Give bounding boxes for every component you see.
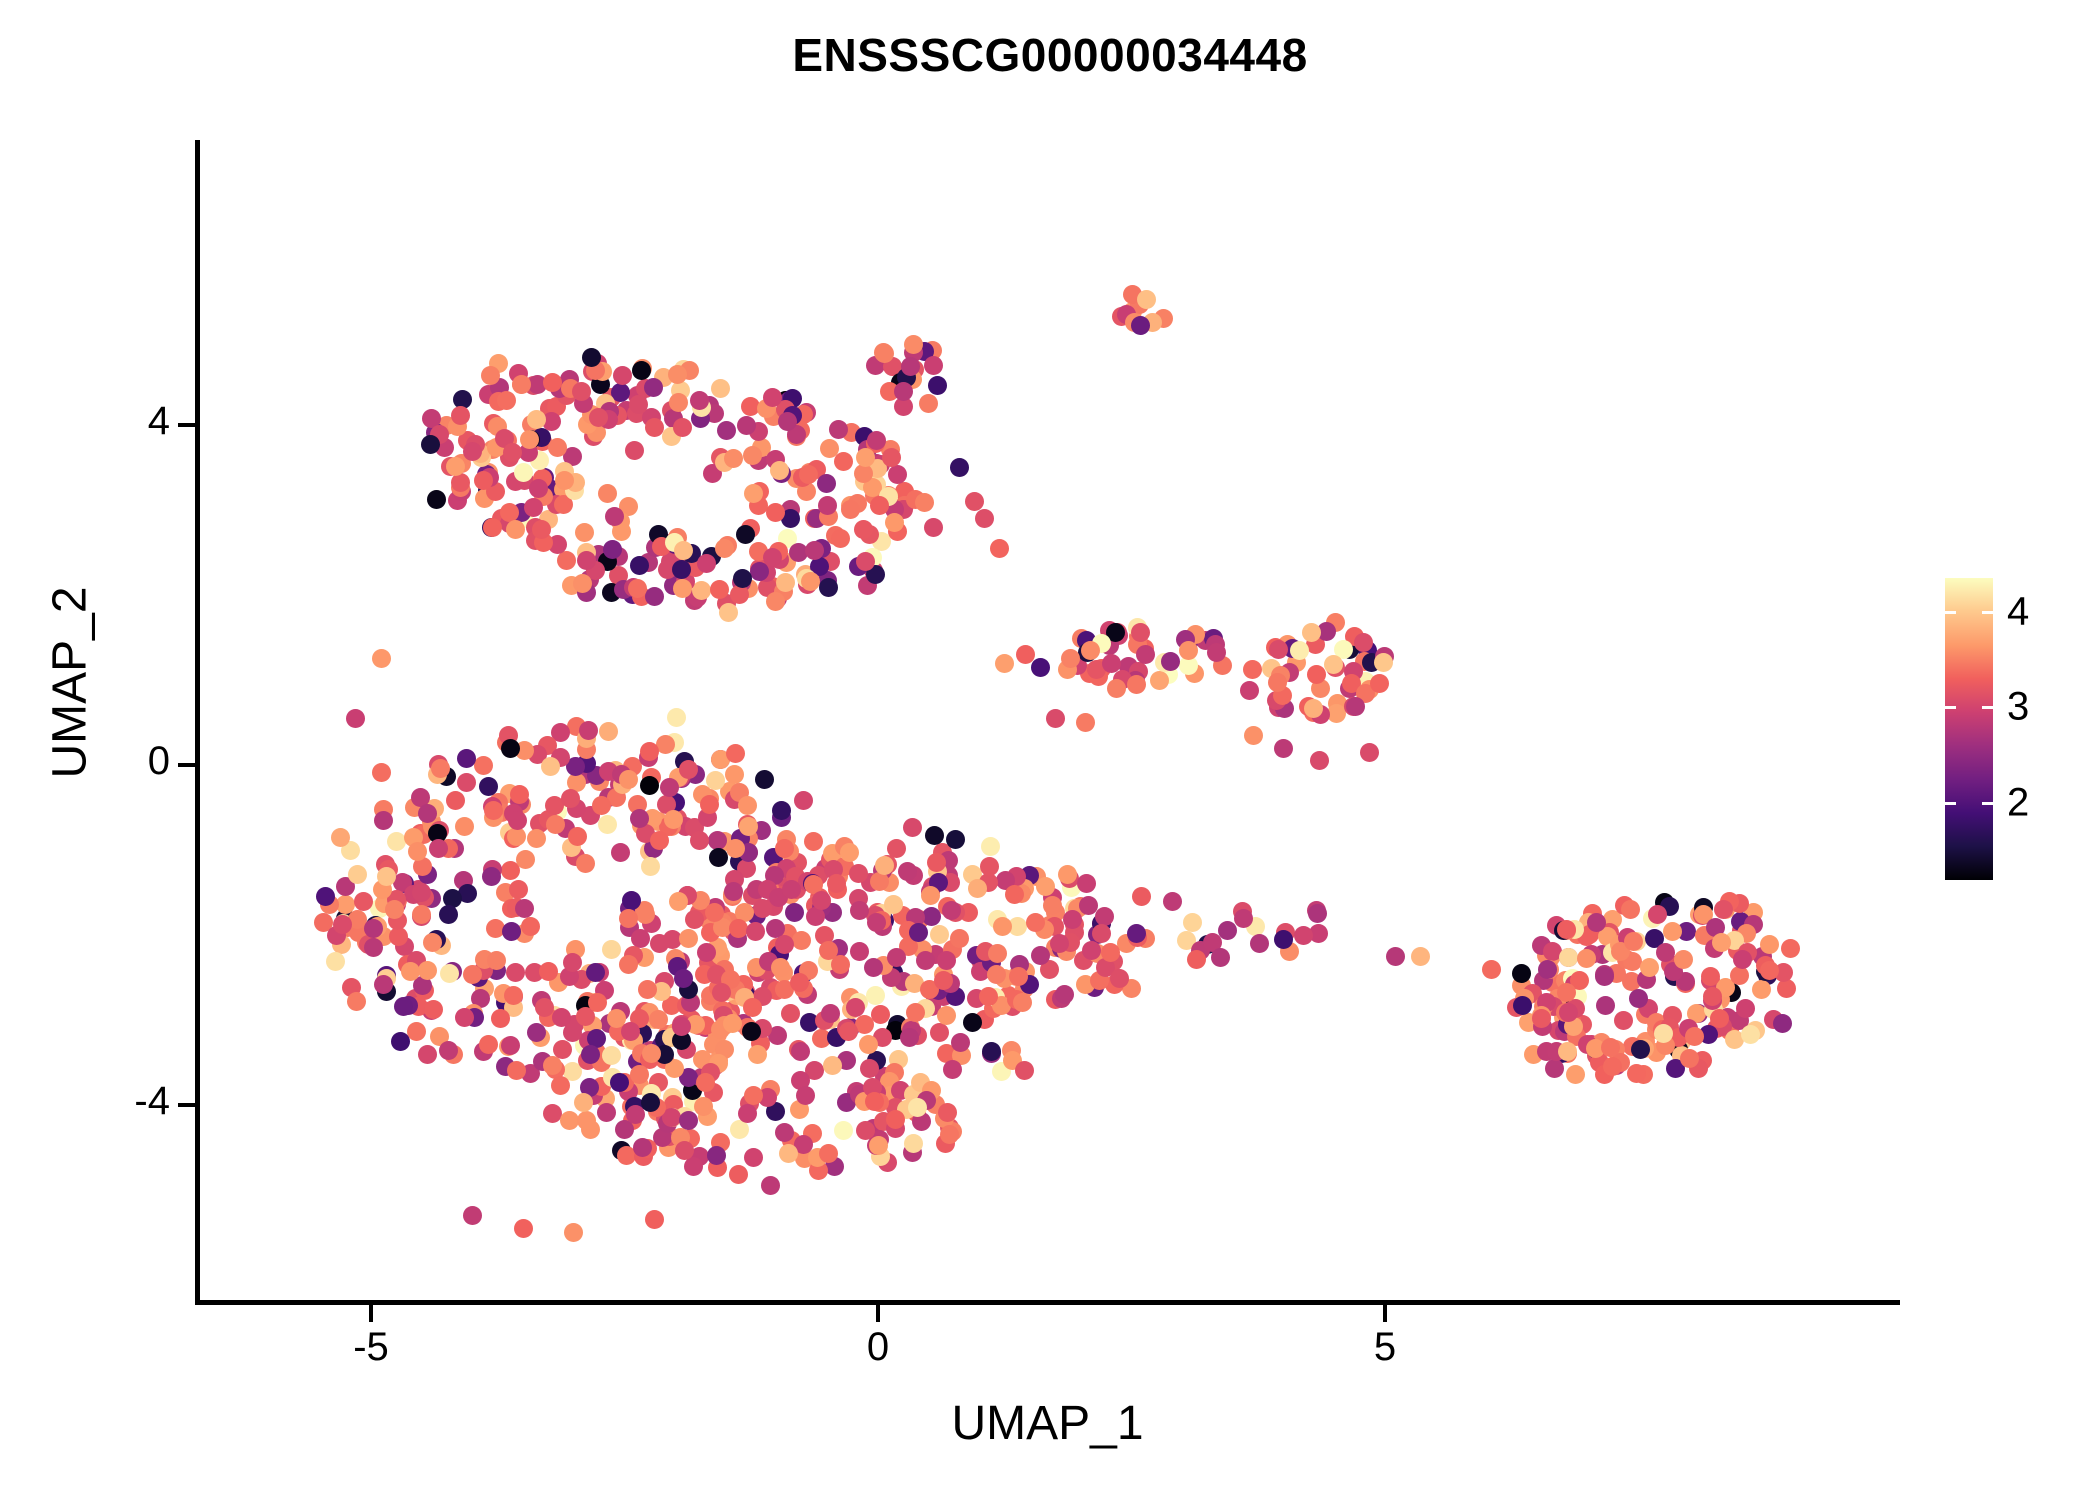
scatter-point — [527, 829, 546, 848]
scatter-point — [1009, 967, 1028, 986]
scatter-point — [723, 1014, 742, 1033]
scatter-point — [541, 757, 560, 776]
scatter-point — [348, 865, 367, 884]
scatter-point — [951, 1033, 970, 1052]
scatter-point — [750, 562, 769, 581]
scatter-point — [579, 721, 598, 740]
scatter-point — [867, 913, 886, 932]
scatter-point — [481, 366, 500, 385]
scatter-point — [850, 901, 869, 920]
colorbar-tick-mark-1-right — [1982, 706, 1993, 709]
scatter-point — [603, 540, 622, 559]
scatter-point — [736, 525, 755, 544]
scatter-points-layer — [195, 140, 1900, 1300]
scatter-point — [625, 441, 644, 460]
scatter-point — [374, 811, 393, 830]
scatter-point — [894, 382, 913, 401]
colorbar-tick-mark-2-left — [1945, 802, 1956, 805]
scatter-point — [990, 539, 1009, 558]
scatter-point — [1076, 713, 1095, 732]
scatter-point — [424, 1000, 443, 1019]
scatter-point — [598, 815, 617, 834]
scatter-point — [372, 649, 391, 668]
scatter-point — [738, 796, 757, 815]
scatter-point — [888, 465, 907, 484]
scatter-point — [995, 654, 1014, 673]
scatter-point — [645, 418, 664, 437]
scatter-point — [1760, 935, 1779, 954]
scatter-point — [610, 1073, 629, 1092]
scatter-point — [685, 910, 704, 929]
scatter-point — [1308, 904, 1327, 923]
scatter-point — [690, 831, 709, 850]
scatter-point — [1557, 920, 1576, 939]
scatter-point — [668, 365, 687, 384]
scatter-point — [1131, 316, 1150, 335]
scatter-point — [771, 958, 790, 977]
scatter-point — [1207, 643, 1226, 662]
scatter-point — [763, 388, 782, 407]
scatter-point — [673, 579, 692, 598]
scatter-point — [455, 817, 474, 836]
scatter-point — [744, 1148, 763, 1167]
scatter-point — [968, 879, 987, 898]
scatter-point — [1302, 623, 1321, 642]
scatter-point — [854, 520, 873, 539]
scatter-point — [919, 394, 938, 413]
scatter-point — [1187, 950, 1206, 969]
scatter-point — [1324, 655, 1343, 674]
y-axis-title: UMAP_2 — [43, 283, 98, 1083]
scatter-point — [1566, 1065, 1585, 1084]
scatter-point — [871, 1005, 890, 1024]
scatter-point — [1577, 949, 1596, 968]
scatter-point — [1015, 1061, 1034, 1080]
scatter-point — [782, 880, 801, 899]
scatter-point — [696, 1073, 715, 1092]
scatter-point — [346, 709, 365, 728]
scatter-point — [483, 518, 502, 537]
scatter-point — [1161, 652, 1180, 671]
scatter-point — [1082, 941, 1101, 960]
scatter-point — [619, 955, 638, 974]
scatter-point — [1559, 948, 1578, 967]
scatter-point — [573, 574, 592, 593]
scatter-point — [1374, 653, 1393, 672]
scatter-point — [479, 1035, 498, 1054]
scatter-point — [775, 935, 794, 954]
scatter-point — [1701, 967, 1720, 986]
scatter-point — [1624, 932, 1643, 951]
y-axis-line — [195, 140, 200, 1305]
scatter-point — [1712, 933, 1731, 952]
scatter-point — [602, 940, 621, 959]
scatter-point — [552, 1008, 571, 1027]
scatter-point — [796, 1086, 815, 1105]
umap-feature-plot: ENSSSCG00000034448 -50540-4 UMAP_1 UMAP_… — [0, 0, 2100, 1500]
scatter-point — [866, 986, 885, 1005]
scatter-point — [650, 934, 669, 953]
scatter-point — [1346, 697, 1365, 716]
scatter-point — [510, 785, 529, 804]
colorbar-tick-mark-0-left — [1945, 611, 1956, 614]
scatter-point — [592, 796, 611, 815]
scatter-point — [903, 818, 922, 837]
scatter-point — [548, 438, 567, 457]
scatter-point — [599, 722, 618, 741]
scatter-point — [1077, 874, 1096, 893]
scatter-point — [778, 412, 797, 431]
scatter-point — [755, 770, 774, 789]
scatter-point — [870, 872, 889, 891]
scatter-point — [507, 1061, 526, 1080]
scatter-point — [946, 830, 965, 849]
scatter-point — [474, 471, 493, 490]
scatter-point — [746, 922, 765, 941]
colorbar-tick-mark-2-right — [1982, 802, 1993, 805]
scatter-point — [1654, 1024, 1673, 1043]
scatter-point — [649, 1010, 668, 1029]
scatter-point — [1031, 946, 1050, 965]
scatter-point — [909, 923, 928, 942]
scatter-point — [611, 843, 630, 862]
scatter-point — [1685, 1027, 1704, 1046]
x-tick-label-2: 5 — [1325, 1325, 1445, 1370]
scatter-point — [1013, 993, 1032, 1012]
scatter-point — [1137, 290, 1156, 309]
scatter-point — [1310, 751, 1329, 770]
scatter-point — [364, 938, 383, 957]
scatter-point — [1741, 1025, 1760, 1044]
scatter-point — [626, 1105, 645, 1124]
scatter-point — [1102, 654, 1121, 673]
scatter-point — [679, 929, 698, 948]
scatter-point — [1132, 887, 1151, 906]
scatter-point — [770, 461, 789, 480]
scatter-point — [633, 1138, 652, 1157]
scatter-point — [819, 941, 838, 960]
scatter-point — [743, 446, 762, 465]
scatter-point — [630, 1065, 649, 1084]
scatter-point — [446, 791, 465, 810]
scatter-point — [1131, 623, 1150, 642]
scatter-point — [1360, 743, 1379, 762]
scatter-point — [508, 811, 527, 830]
scatter-point — [834, 452, 853, 471]
colorbar-tick-label-1: 3 — [2007, 685, 2029, 730]
scatter-point — [631, 929, 650, 948]
scatter-point — [1136, 645, 1155, 664]
scatter-point — [457, 773, 476, 792]
scatter-point — [831, 529, 850, 548]
scatter-point — [506, 963, 525, 982]
scatter-point — [1101, 943, 1120, 962]
scatter-point — [1016, 645, 1035, 664]
scatter-point — [501, 1036, 520, 1055]
scatter-point — [729, 1165, 748, 1184]
scatter-point — [364, 919, 383, 938]
scatter-point — [860, 1059, 879, 1078]
scatter-point — [1781, 939, 1800, 958]
scatter-point — [589, 408, 608, 427]
scatter-point — [707, 1146, 726, 1165]
scatter-point — [1058, 865, 1077, 884]
scatter-point — [1648, 905, 1667, 924]
scatter-point — [484, 801, 503, 820]
scatter-point — [564, 1223, 583, 1242]
scatter-point — [667, 708, 686, 727]
scatter-point — [725, 765, 744, 784]
scatter-point — [801, 572, 820, 591]
scatter-point — [427, 490, 446, 509]
scatter-point — [575, 523, 594, 542]
scatter-point — [743, 998, 762, 1017]
scatter-point — [1290, 641, 1309, 660]
scatter-point — [684, 1157, 703, 1176]
scatter-point — [776, 573, 795, 592]
scatter-point — [1733, 950, 1752, 969]
scatter-point — [711, 379, 730, 398]
scatter-point — [1752, 980, 1771, 999]
scatter-point — [775, 1123, 794, 1142]
scatter-point — [965, 492, 984, 511]
scatter-point — [817, 474, 836, 493]
scatter-point — [1674, 950, 1693, 969]
scatter-point — [1081, 641, 1100, 660]
scatter-point — [1703, 987, 1722, 1006]
scatter-point — [1294, 926, 1313, 945]
scatter-point — [937, 1006, 956, 1025]
scatter-point — [503, 443, 522, 462]
scatter-point — [705, 903, 724, 922]
scatter-point — [874, 343, 893, 362]
scatter-point — [1079, 896, 1098, 915]
scatter-point — [901, 357, 920, 376]
scatter-point — [673, 418, 692, 437]
colorbar-tick-mark-0-right — [1982, 611, 1993, 614]
scatter-point — [1354, 633, 1373, 652]
scatter-point — [1127, 924, 1146, 943]
scatter-point — [463, 965, 482, 984]
scatter-point — [401, 962, 420, 981]
scatter-point — [886, 1110, 905, 1129]
scatter-point — [839, 1022, 858, 1041]
x-tick-label-0: -5 — [311, 1325, 431, 1370]
scatter-point — [1092, 924, 1111, 943]
scatter-point — [516, 850, 535, 869]
scatter-point — [605, 507, 624, 526]
scatter-point — [1036, 877, 1055, 896]
scatter-point — [791, 1042, 810, 1061]
scatter-point — [502, 922, 521, 941]
scatter-point — [1773, 1014, 1792, 1033]
scatter-point — [849, 864, 868, 883]
scatter-point — [827, 874, 846, 893]
scatter-point — [1614, 1011, 1633, 1030]
scatter-point — [850, 942, 869, 961]
y-tick-0 — [178, 423, 195, 427]
scatter-point — [574, 1093, 593, 1112]
scatter-point — [638, 980, 657, 999]
scatter-point — [697, 943, 716, 962]
scatter-point — [1063, 910, 1082, 929]
scatter-point — [672, 560, 691, 579]
scatter-point — [717, 421, 736, 440]
scatter-point — [418, 1045, 437, 1064]
scatter-point — [514, 1219, 533, 1238]
scatter-point — [1179, 641, 1198, 660]
scatter-point — [856, 448, 875, 467]
scatter-point — [418, 804, 437, 823]
scatter-point — [1127, 675, 1146, 694]
scatter-point — [1046, 709, 1065, 728]
scatter-point — [577, 551, 596, 570]
scatter-point — [859, 1035, 878, 1054]
scatter-point — [1629, 989, 1648, 1008]
scatter-point — [709, 848, 728, 867]
scatter-point — [794, 791, 813, 810]
scatter-point — [950, 458, 969, 477]
scatter-point — [418, 961, 437, 980]
scatter-point — [1538, 960, 1557, 979]
scatter-point — [906, 1003, 925, 1022]
scatter-point — [1150, 671, 1169, 690]
scatter-point — [645, 1210, 664, 1229]
scatter-point — [792, 931, 811, 950]
scatter-point — [551, 1076, 570, 1095]
scatter-point — [679, 1111, 698, 1130]
scatter-point — [629, 395, 648, 414]
scatter-point — [987, 965, 1006, 984]
scatter-point — [1218, 921, 1237, 940]
scatter-point — [963, 1013, 982, 1032]
scatter-point — [882, 448, 901, 467]
scatter-point — [613, 366, 632, 385]
scatter-point — [904, 1134, 923, 1153]
scatter-point — [819, 578, 838, 597]
scatter-point — [331, 828, 350, 847]
scatter-point — [333, 915, 352, 934]
scatter-point — [1777, 979, 1796, 998]
scatter-point — [898, 862, 917, 881]
scatter-point — [463, 1206, 482, 1225]
scatter-point — [561, 789, 580, 808]
scatter-point — [1545, 1059, 1564, 1078]
scatter-point — [742, 1022, 761, 1041]
scatter-point — [867, 431, 886, 450]
scatter-point — [930, 1023, 949, 1042]
scatter-point — [497, 391, 516, 410]
scatter-point — [581, 1045, 600, 1064]
scatter-point — [529, 479, 548, 498]
scatter-point — [938, 1103, 957, 1122]
scatter-point — [739, 817, 758, 836]
scatter-point — [1268, 673, 1287, 692]
scatter-point — [924, 518, 943, 537]
scatter-point — [761, 1176, 780, 1195]
scatter-point — [619, 770, 638, 789]
scatter-point — [524, 498, 543, 517]
scatter-point — [766, 592, 785, 611]
scatter-point — [726, 744, 745, 763]
colorbar-tick-mark-1-left — [1945, 706, 1956, 709]
scatter-point — [812, 891, 831, 910]
scatter-point — [509, 880, 528, 899]
scatter-point — [607, 1009, 626, 1028]
scatter-point — [821, 1004, 840, 1023]
scatter-point — [598, 484, 617, 503]
scatter-point — [500, 503, 519, 522]
colorbar-tick-label-0: 4 — [2007, 589, 2029, 634]
scatter-point — [993, 917, 1012, 936]
scatter-point — [1240, 681, 1259, 700]
scatter-point — [482, 867, 501, 886]
scatter-point — [582, 348, 601, 367]
scatter-point — [1603, 1057, 1622, 1076]
scatter-point — [869, 1136, 888, 1155]
scatter-point — [1714, 900, 1733, 919]
scatter-point — [870, 496, 889, 515]
scatter-point — [1760, 961, 1779, 980]
scatter-point — [1055, 985, 1074, 1004]
scatter-point — [694, 1097, 713, 1116]
scatter-point — [423, 933, 442, 952]
scatter-point — [439, 905, 458, 924]
scatter-point — [942, 901, 961, 920]
scatter-point — [1558, 1042, 1577, 1061]
scatter-point — [785, 903, 804, 922]
scatter-point — [710, 580, 729, 599]
scatter-point — [724, 449, 743, 468]
colorbar-legend: 432 — [1945, 578, 1993, 880]
scatter-point — [408, 842, 427, 861]
scatter-point — [451, 406, 470, 425]
scatter-point — [975, 509, 994, 528]
colorbar-gradient — [1945, 578, 1993, 880]
scatter-point — [1663, 922, 1682, 941]
scatter-point — [738, 1104, 757, 1123]
scatter-point — [712, 983, 731, 1002]
scatter-point — [924, 356, 943, 375]
scatter-point — [1559, 1003, 1578, 1022]
scatter-point — [1244, 726, 1263, 745]
x-tick-1 — [876, 1305, 880, 1322]
scatter-point — [632, 361, 651, 380]
scatter-point — [916, 951, 935, 970]
plot-panel — [195, 140, 1900, 1300]
scatter-point — [568, 827, 587, 846]
scatter-point — [781, 1004, 800, 1023]
scatter-point — [1621, 900, 1640, 919]
scatter-point — [1274, 930, 1293, 949]
x-tick-2 — [1383, 1305, 1387, 1322]
scatter-point — [934, 971, 953, 990]
scatter-point — [940, 1125, 959, 1144]
scatter-point — [1595, 967, 1614, 986]
y-tick-label-2: -4 — [10, 1079, 170, 1124]
scatter-point — [674, 969, 693, 988]
scatter-point — [1601, 1038, 1620, 1057]
scatter-point — [887, 948, 906, 967]
scatter-point — [1656, 943, 1675, 962]
scatter-point — [819, 1144, 838, 1163]
scatter-point — [650, 831, 669, 850]
scatter-point — [908, 1098, 927, 1117]
scatter-point — [1370, 674, 1389, 693]
scatter-point — [326, 952, 345, 971]
scatter-point — [576, 854, 595, 873]
scatter-point — [1250, 934, 1269, 953]
